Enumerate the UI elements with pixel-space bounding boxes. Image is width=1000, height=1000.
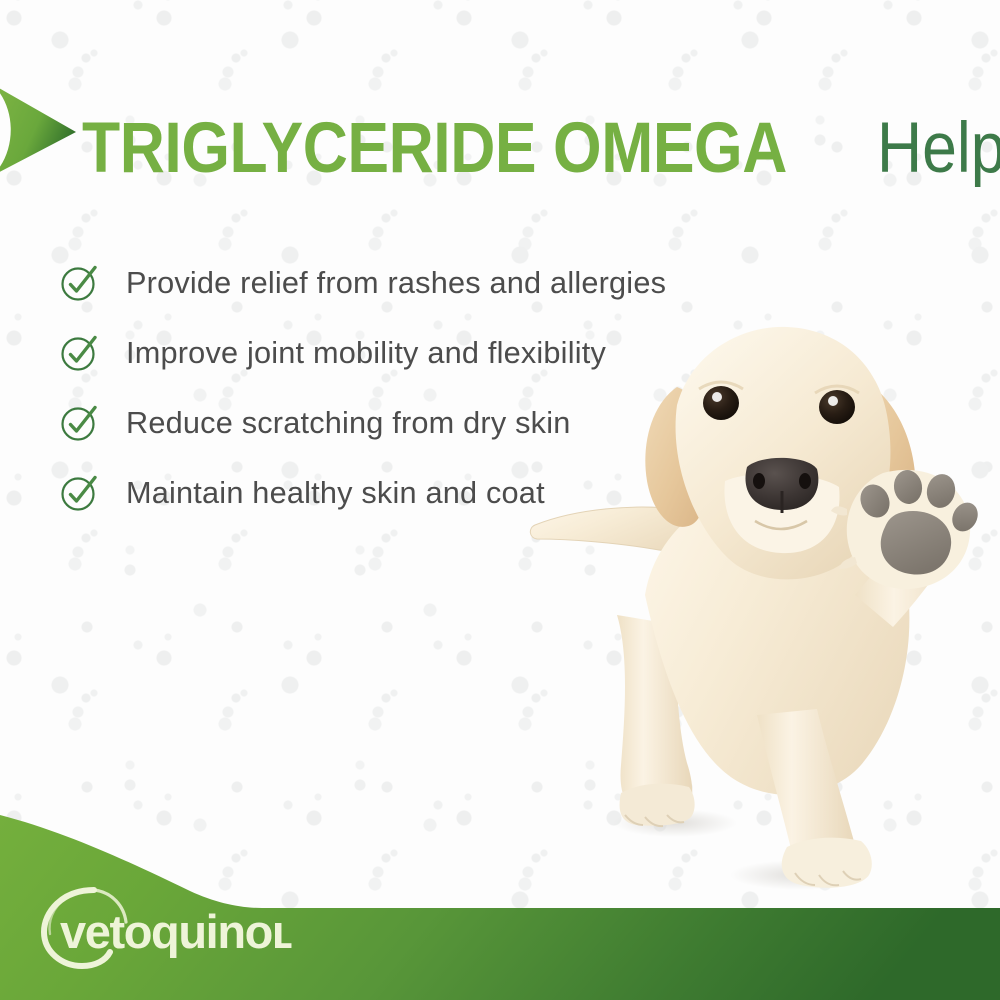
check-circle-icon bbox=[60, 473, 100, 513]
check-circle-icon bbox=[60, 333, 100, 373]
vetoquinol-logo: vetoquinoʟ bbox=[36, 880, 296, 972]
check-circle-icon bbox=[60, 263, 100, 303]
infographic-canvas: TRIGLYCERIDE OMEGAHelps Provide relief f… bbox=[0, 0, 1000, 1000]
brand-footer: vetoquinoʟ bbox=[0, 815, 1000, 1000]
page-title: TRIGLYCERIDE OMEGAHelps bbox=[82, 113, 1000, 184]
puppy-photo bbox=[525, 295, 1000, 895]
chevron-right-arrow-icon bbox=[0, 84, 76, 176]
check-circle-icon bbox=[60, 403, 100, 443]
page-title-secondary: Helps bbox=[877, 113, 1000, 184]
benefit-item-label: Maintain healthy skin and coat bbox=[126, 475, 545, 511]
brand-wordmark: vetoquinoʟ bbox=[60, 905, 292, 958]
benefit-item-label: Reduce scratching from dry skin bbox=[126, 405, 570, 441]
page-title-primary: TRIGLYCERIDE OMEGA bbox=[82, 113, 787, 184]
